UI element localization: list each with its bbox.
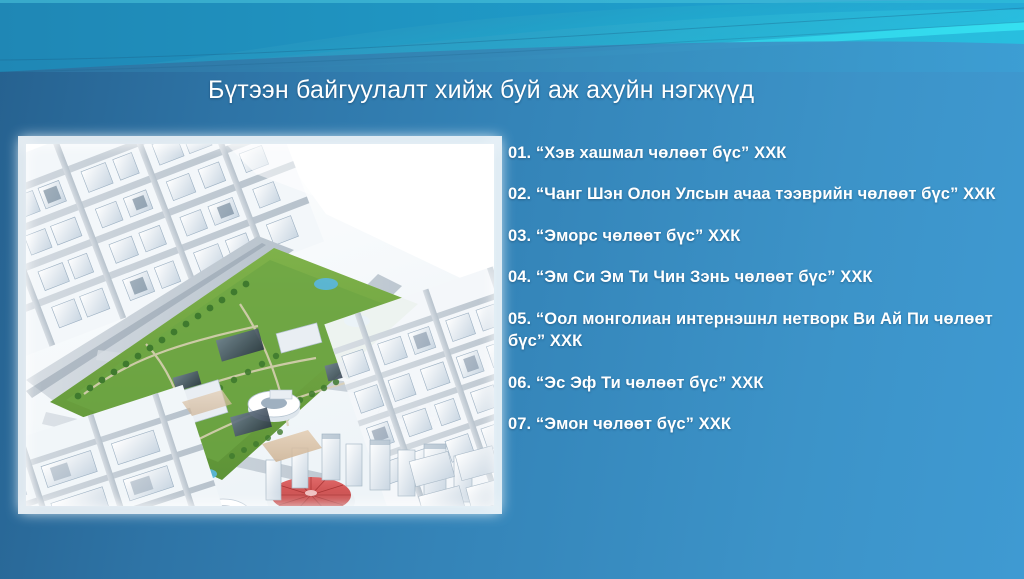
list-item: 03. “Эморс чөлөөт бүс” ХХК [508,225,1000,247]
list-item: 02. “Чанг Шэн Олон Улсын ачаа тээврийн ч… [508,183,1000,205]
list-item: 01. “Хэв хашмал чөлөөт бүс” ХХК [508,142,1000,164]
slide-title: Бүтээн байгуулалт хийж буй аж ахуйн нэгж… [208,76,754,105]
list-item: 06. “Эс Эф Ти чөлөөт бүс” ХХК [508,372,1000,394]
presentation-slide: Бүтээн байгуулалт хийж буй аж ахуйн нэгж… [0,0,1024,579]
company-list: 01. “Хэв хашмал чөлөөт бүс” ХХК 02. “Чан… [508,142,1000,436]
list-item: 05. “Оол монголиан интернэшнл нетворк Ви… [508,308,1000,353]
image-frame [26,144,494,506]
list-item: 04. “Эм Си Эм Ти Чин Зэнь чөлөөт бүс” ХХ… [508,266,1000,288]
list-item: 07. “Эмон чөлөөт бүс” ХХК [508,413,1000,435]
masterplan-image [26,144,494,506]
header-wave-banner [0,0,1024,72]
